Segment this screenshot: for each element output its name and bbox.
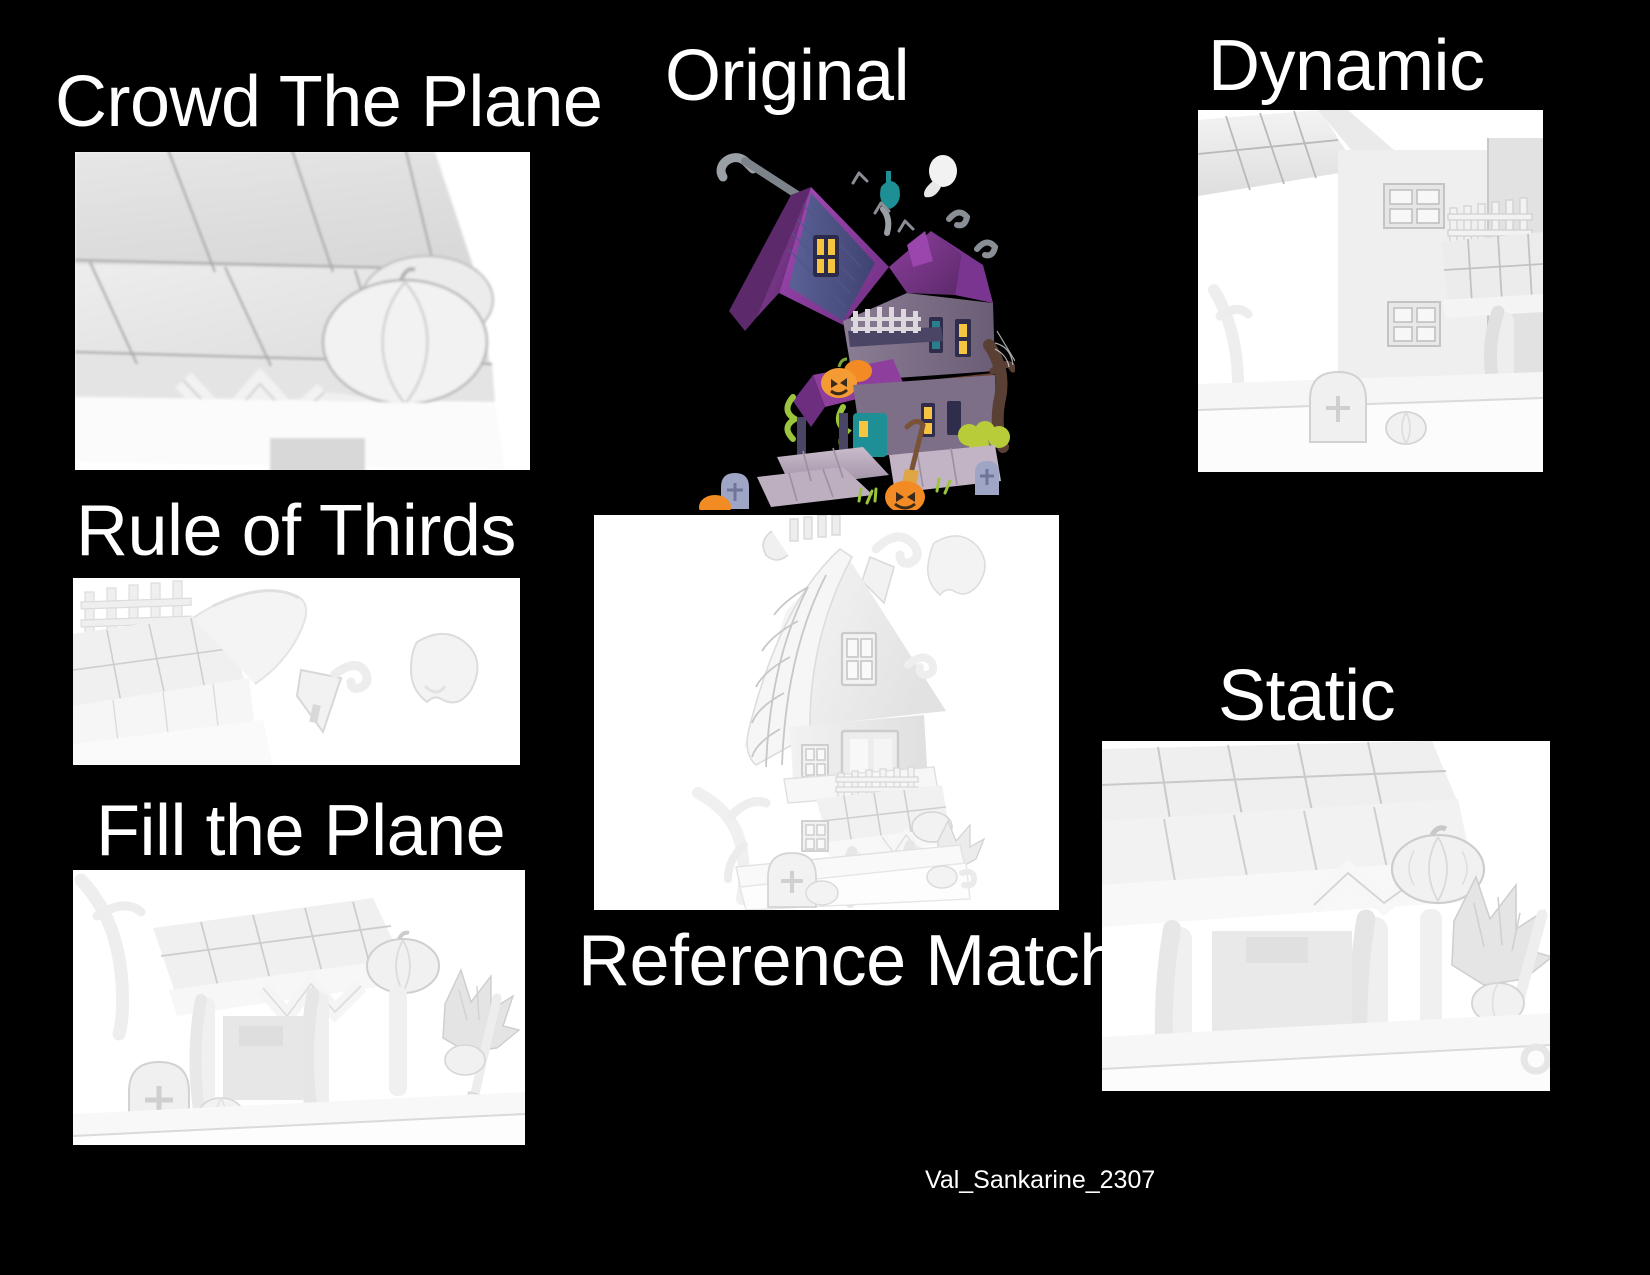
panel-label-original: Original bbox=[665, 40, 909, 112]
panel-label-dynamic: Dynamic bbox=[1208, 30, 1485, 102]
composition-board: Crowd The Plane bbox=[0, 0, 1650, 1275]
panel-label-crowd-the-plane: Crowd The Plane bbox=[55, 66, 602, 138]
panel-reference-match bbox=[594, 515, 1059, 910]
panel-rule-of-thirds bbox=[73, 578, 520, 765]
panel-crowd-the-plane bbox=[75, 152, 530, 470]
render-reference-match bbox=[594, 515, 1059, 910]
render-fill-the-plane bbox=[73, 870, 525, 1145]
panel-dynamic bbox=[1198, 110, 1543, 472]
artwork-original-haunted-house bbox=[693, 135, 1015, 510]
render-dynamic bbox=[1198, 110, 1543, 472]
panel-label-fill-the-plane: Fill the Plane bbox=[96, 795, 505, 867]
author-credit: Val_Sankarine_2307 bbox=[925, 1168, 1155, 1193]
panel-original bbox=[693, 135, 1015, 510]
render-crowd-the-plane bbox=[75, 152, 530, 470]
panel-fill-the-plane bbox=[73, 870, 525, 1145]
panel-label-rule-of-thirds: Rule of Thirds bbox=[76, 495, 516, 567]
render-static bbox=[1102, 741, 1550, 1091]
render-rule-of-thirds bbox=[73, 578, 520, 765]
panel-static bbox=[1102, 741, 1550, 1091]
panel-label-static: Static bbox=[1218, 660, 1395, 732]
panel-label-reference-match: Reference Match bbox=[578, 925, 1119, 997]
